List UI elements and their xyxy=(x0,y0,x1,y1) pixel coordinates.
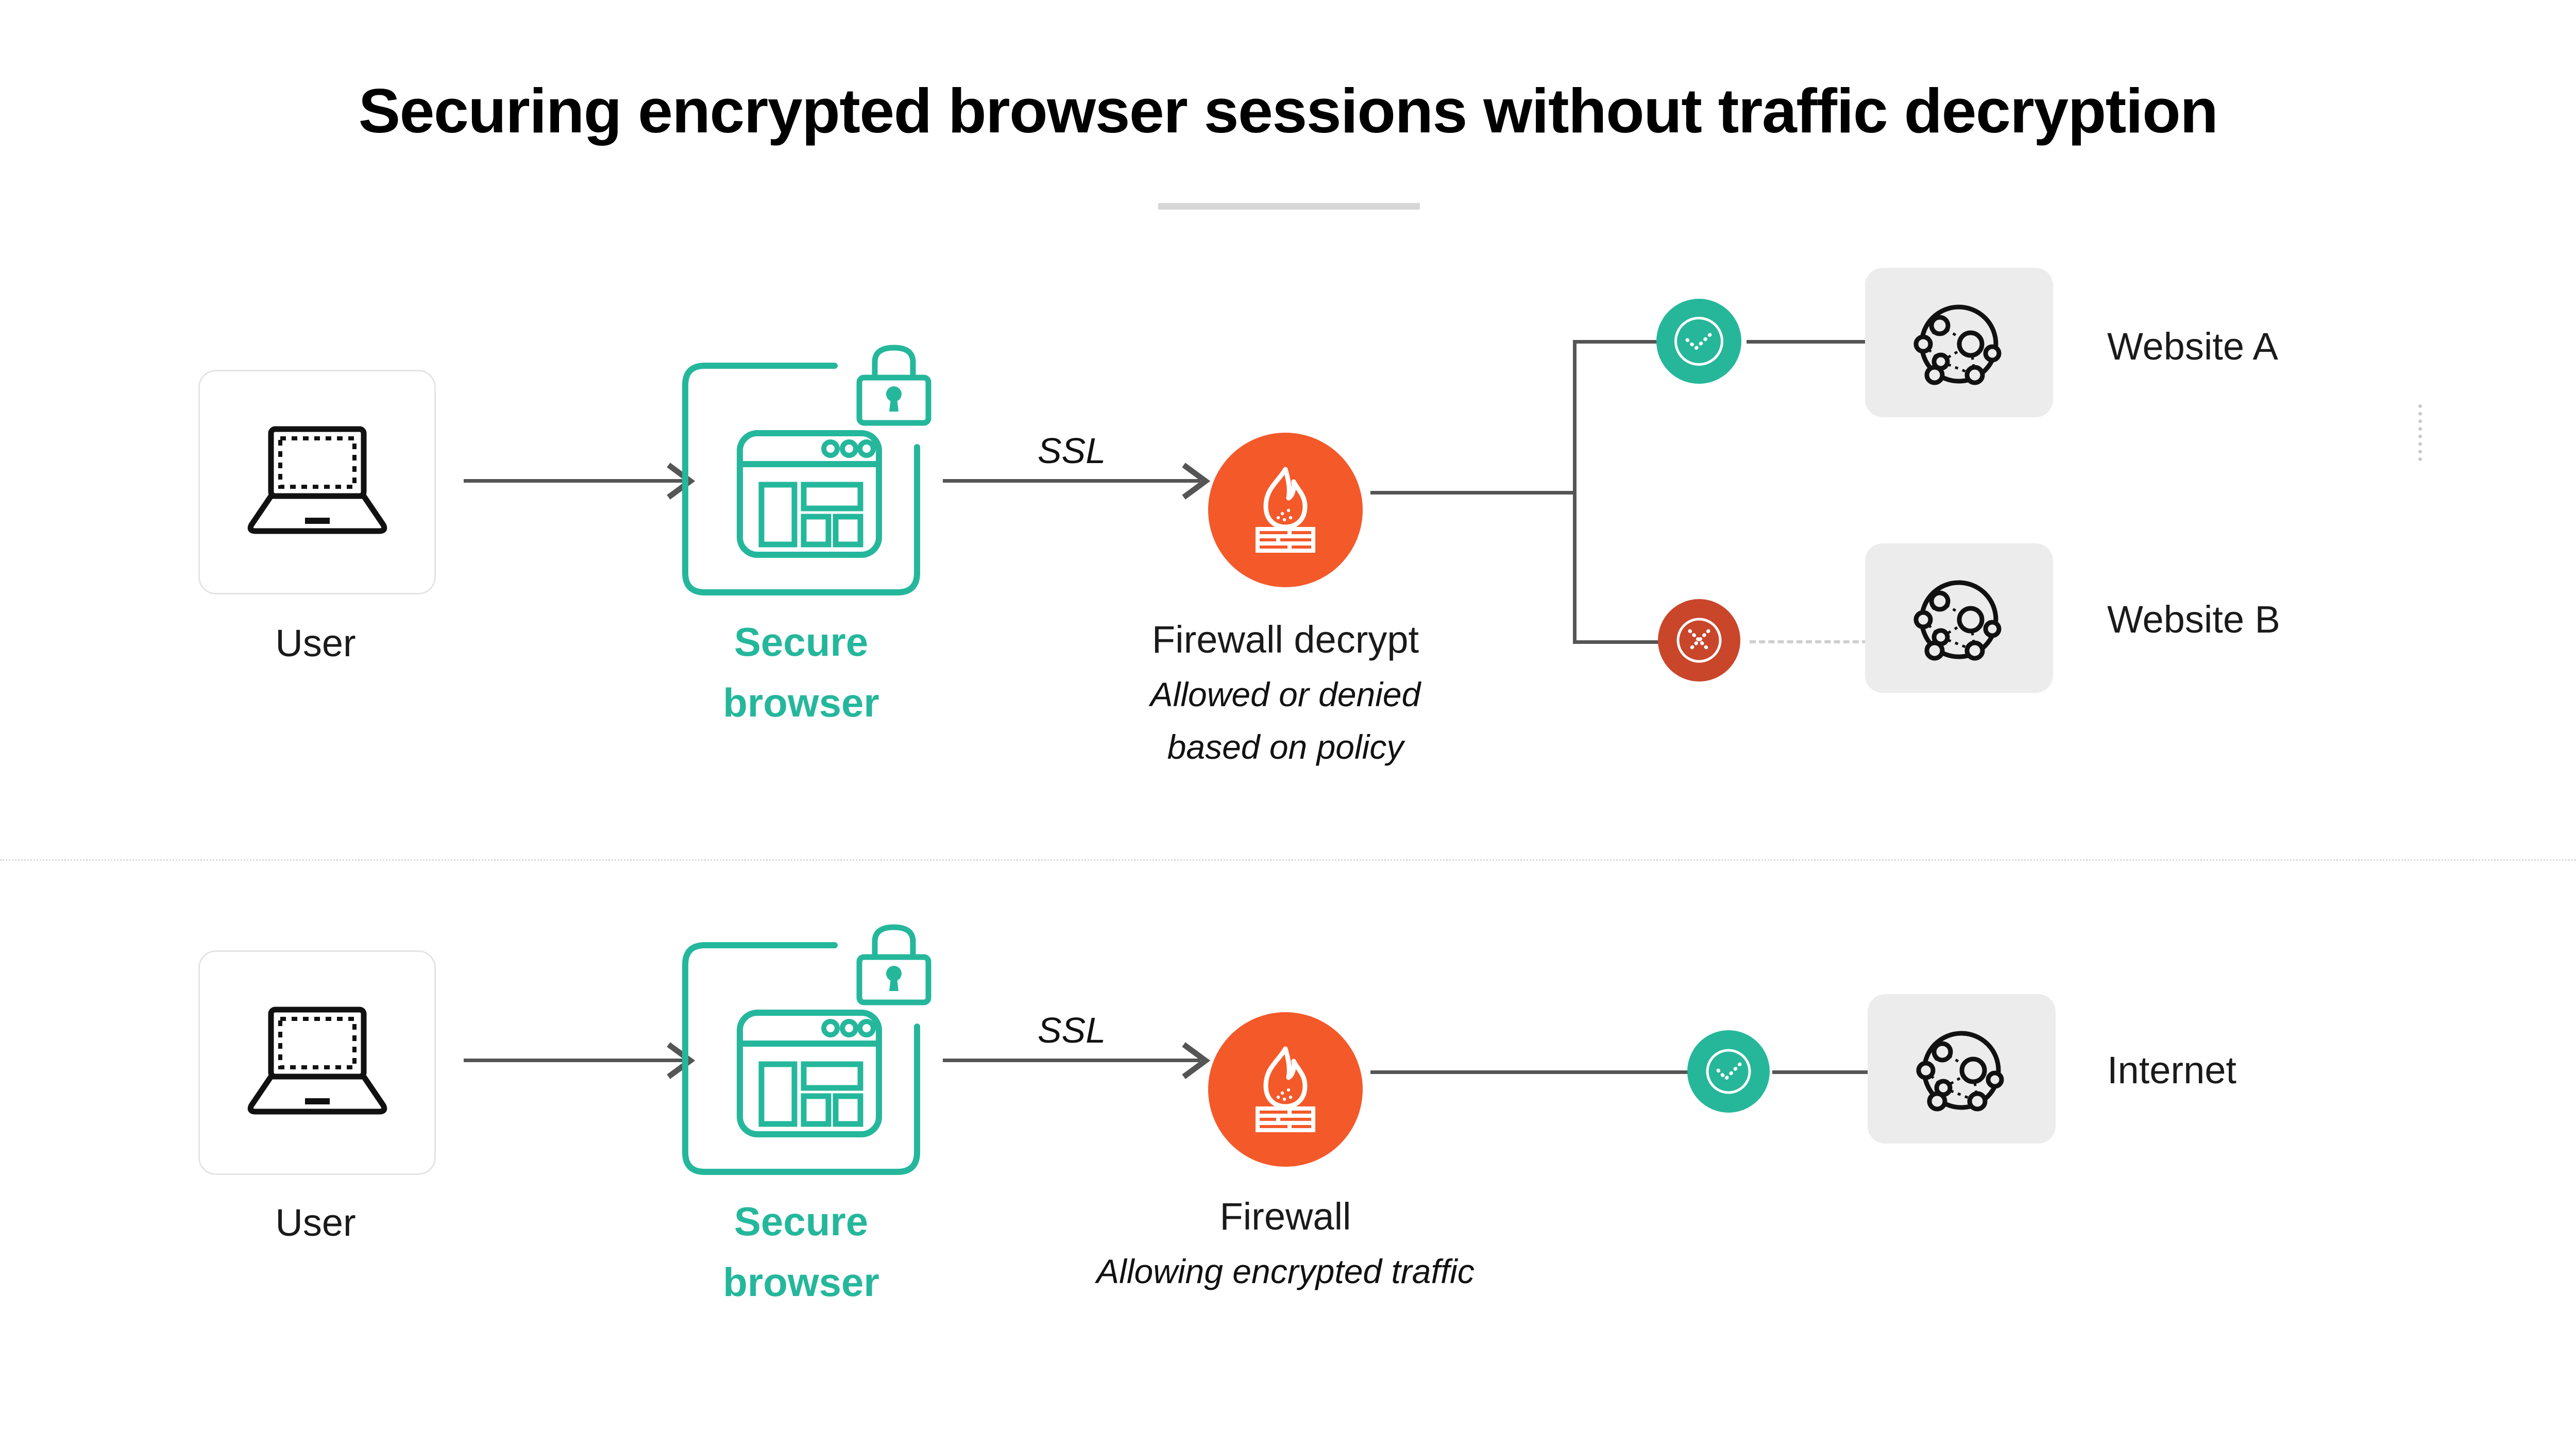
row2-allow-to-internet-line xyxy=(1772,1070,1868,1074)
row2-user-box[interactable] xyxy=(198,950,436,1175)
network-globe-icon xyxy=(1909,568,2009,669)
row1-branch-splitter xyxy=(1573,340,1577,644)
network-globe-icon xyxy=(1909,293,2009,393)
x-circle-icon xyxy=(1673,615,1725,666)
row1-arrow-browser-to-firewall-line xyxy=(943,479,1200,483)
row1-website-a-box[interactable] xyxy=(1865,268,2053,417)
row2-internet-box[interactable] xyxy=(1868,994,2056,1144)
firewall-icon xyxy=(1244,1046,1327,1133)
row1-allow-badge[interactable] xyxy=(1656,299,1741,384)
row1-firewall-sublabel-line2: based on policy xyxy=(1054,727,1517,768)
check-circle-icon xyxy=(1703,1046,1754,1097)
laptop-icon xyxy=(240,423,395,541)
row1-deny-to-website-b-line xyxy=(1750,640,1868,643)
row2-arrow-user-to-browser-line xyxy=(464,1059,685,1062)
row2-user-label: User xyxy=(198,1200,433,1245)
row2-firewall-node[interactable] xyxy=(1208,1012,1363,1167)
row1-branch-down xyxy=(1573,640,1671,644)
row1-user-box[interactable] xyxy=(198,370,436,594)
row2-firewall-sublabel: Allowing encrypted traffic xyxy=(1002,1252,1569,1292)
row1-user-label: User xyxy=(198,621,433,666)
row1-firewall-label: Firewall decrypt xyxy=(1054,617,1517,662)
row1-website-b-box[interactable] xyxy=(1865,543,2053,693)
row2-arrow-browser-to-firewall-head xyxy=(1183,1042,1212,1079)
firewall-icon xyxy=(1244,466,1327,554)
row1-allow-to-website-a-line xyxy=(1747,340,1865,344)
row1-arrow-user-to-browser-line xyxy=(464,479,685,483)
check-circle-icon xyxy=(1672,314,1726,368)
row2-secure-browser-label-line1: Secure xyxy=(670,1198,933,1245)
row2-firewall-label: Firewall xyxy=(1054,1194,1517,1239)
row1-secure-browser-label-line1: Secure xyxy=(670,618,933,666)
row2-allow-badge[interactable] xyxy=(1687,1030,1770,1113)
secure-browser-icon xyxy=(737,1010,882,1137)
row2-ssl-label: SSL xyxy=(963,1010,1180,1051)
row1-secure-browser-label-line2: browser xyxy=(670,679,933,726)
page-title: Securing encrypted browser sessions with… xyxy=(0,76,2576,145)
row2-arrow-browser-to-firewall-line xyxy=(943,1059,1200,1062)
row2-firewall-to-allow-line xyxy=(1370,1070,1690,1074)
row1-edge-tick xyxy=(2418,404,2422,461)
title-accent-bar xyxy=(1158,203,1420,210)
row2-secure-browser-label-line2: browser xyxy=(670,1258,933,1306)
row2-internet-label: Internet xyxy=(2107,1048,2236,1092)
secure-browser-icon xyxy=(737,430,882,558)
row1-firewall-sublabel-line1: Allowed or denied xyxy=(1054,675,1517,715)
row1-firewall-node[interactable] xyxy=(1208,433,1363,587)
row1-deny-badge[interactable] xyxy=(1658,599,1740,681)
network-globe-icon xyxy=(1911,1019,2012,1119)
row1-branch-trunk xyxy=(1370,491,1577,495)
row1-ssl-label: SSL xyxy=(963,430,1180,471)
lock-icon xyxy=(850,343,938,428)
section-divider xyxy=(0,859,2576,861)
row1-website-b-label: Website B xyxy=(2107,598,2280,641)
laptop-icon xyxy=(240,1003,395,1122)
row1-website-a-label: Website A xyxy=(2107,325,2278,368)
lock-icon xyxy=(850,922,938,1007)
diagram-canvas: Securing encrypted browser sessions with… xyxy=(0,0,2576,1449)
row1-arrow-browser-to-firewall-head xyxy=(1183,463,1212,500)
